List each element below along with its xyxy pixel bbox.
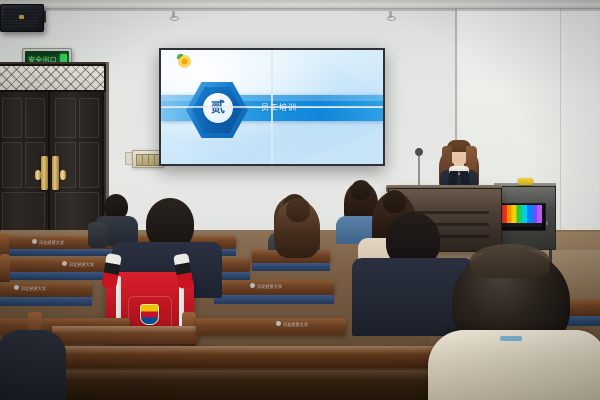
ceiling-hook-icon [172, 11, 175, 18]
door-panel [79, 142, 99, 188]
foreground-shoulder-left [0, 330, 66, 400]
bench-decal-icon [14, 285, 19, 290]
bench-decal-icon [250, 283, 255, 288]
presentation-slide: 贰 员工培训 [161, 50, 383, 164]
bench-decal-label: 河北经贸大学 [21, 286, 46, 292]
lecture-hall-photo: 安全出口 [0, 0, 600, 400]
foreground-hair-highlight [470, 244, 550, 278]
slide-flower-logo-icon [177, 54, 191, 67]
door-right-leaf[interactable] [48, 90, 104, 240]
fc-barcelona-crest-icon [140, 304, 159, 325]
door-left-leaf[interactable] [0, 90, 51, 240]
lattice-grille-icon [0, 66, 104, 90]
door-knob-left[interactable] [35, 170, 41, 180]
logo-petal-icon [179, 56, 190, 67]
bench-decal-label: 河北经贸大学 [283, 322, 308, 328]
door-panel [55, 98, 76, 138]
ceiling-molding-shadow [0, 8, 600, 11]
bench-decal-icon [32, 239, 37, 244]
student-head [351, 180, 371, 200]
bench-decal-icon [276, 321, 281, 326]
door-panel [79, 98, 99, 138]
bench-decal-label: 河北经贸大学 [257, 284, 282, 290]
yellow-accessory-box[interactable] [518, 178, 533, 185]
door-panel [2, 142, 22, 188]
panel-seam-horizontal [161, 106, 383, 108]
door-knob-right[interactable] [60, 170, 66, 180]
ceiling-hook-icon [389, 11, 392, 18]
bench-decal-icon [62, 261, 67, 266]
bench-decal-label: 河北经贸大学 [39, 240, 64, 246]
monitor-colorbars [502, 205, 542, 223]
slide-polygon [291, 120, 383, 164]
door-panel [25, 98, 45, 138]
bench-seat [252, 263, 330, 271]
slide-section-numeral: 贰 [203, 93, 233, 123]
bench-seat [214, 295, 334, 304]
bench-seat [0, 297, 92, 306]
bench-decal-label: 河北经贸大学 [69, 262, 94, 268]
student-head [383, 190, 406, 213]
door-handle-right[interactable] [52, 156, 59, 190]
microphone-icon [415, 148, 423, 156]
slide-title: 员工培训 [261, 100, 371, 116]
door-panel [2, 98, 22, 138]
student-head [286, 198, 310, 222]
transom-window [0, 64, 106, 92]
led-video-wall[interactable]: 贰 员工培训 [159, 48, 385, 166]
speaker-badge-icon [19, 15, 24, 19]
foreground-collar-tag [500, 336, 522, 341]
bench-gloss [52, 326, 198, 333]
wall-seam [560, 0, 561, 232]
slide-polygon [311, 50, 383, 96]
bench-backrest [196, 318, 346, 335]
student-dark-backpack [88, 222, 108, 248]
wall-speaker [0, 4, 44, 32]
monitor-bezel-bottom [502, 223, 542, 227]
bench-arm [0, 254, 10, 284]
door-handle-left[interactable] [41, 156, 48, 190]
door-panel [2, 192, 45, 232]
